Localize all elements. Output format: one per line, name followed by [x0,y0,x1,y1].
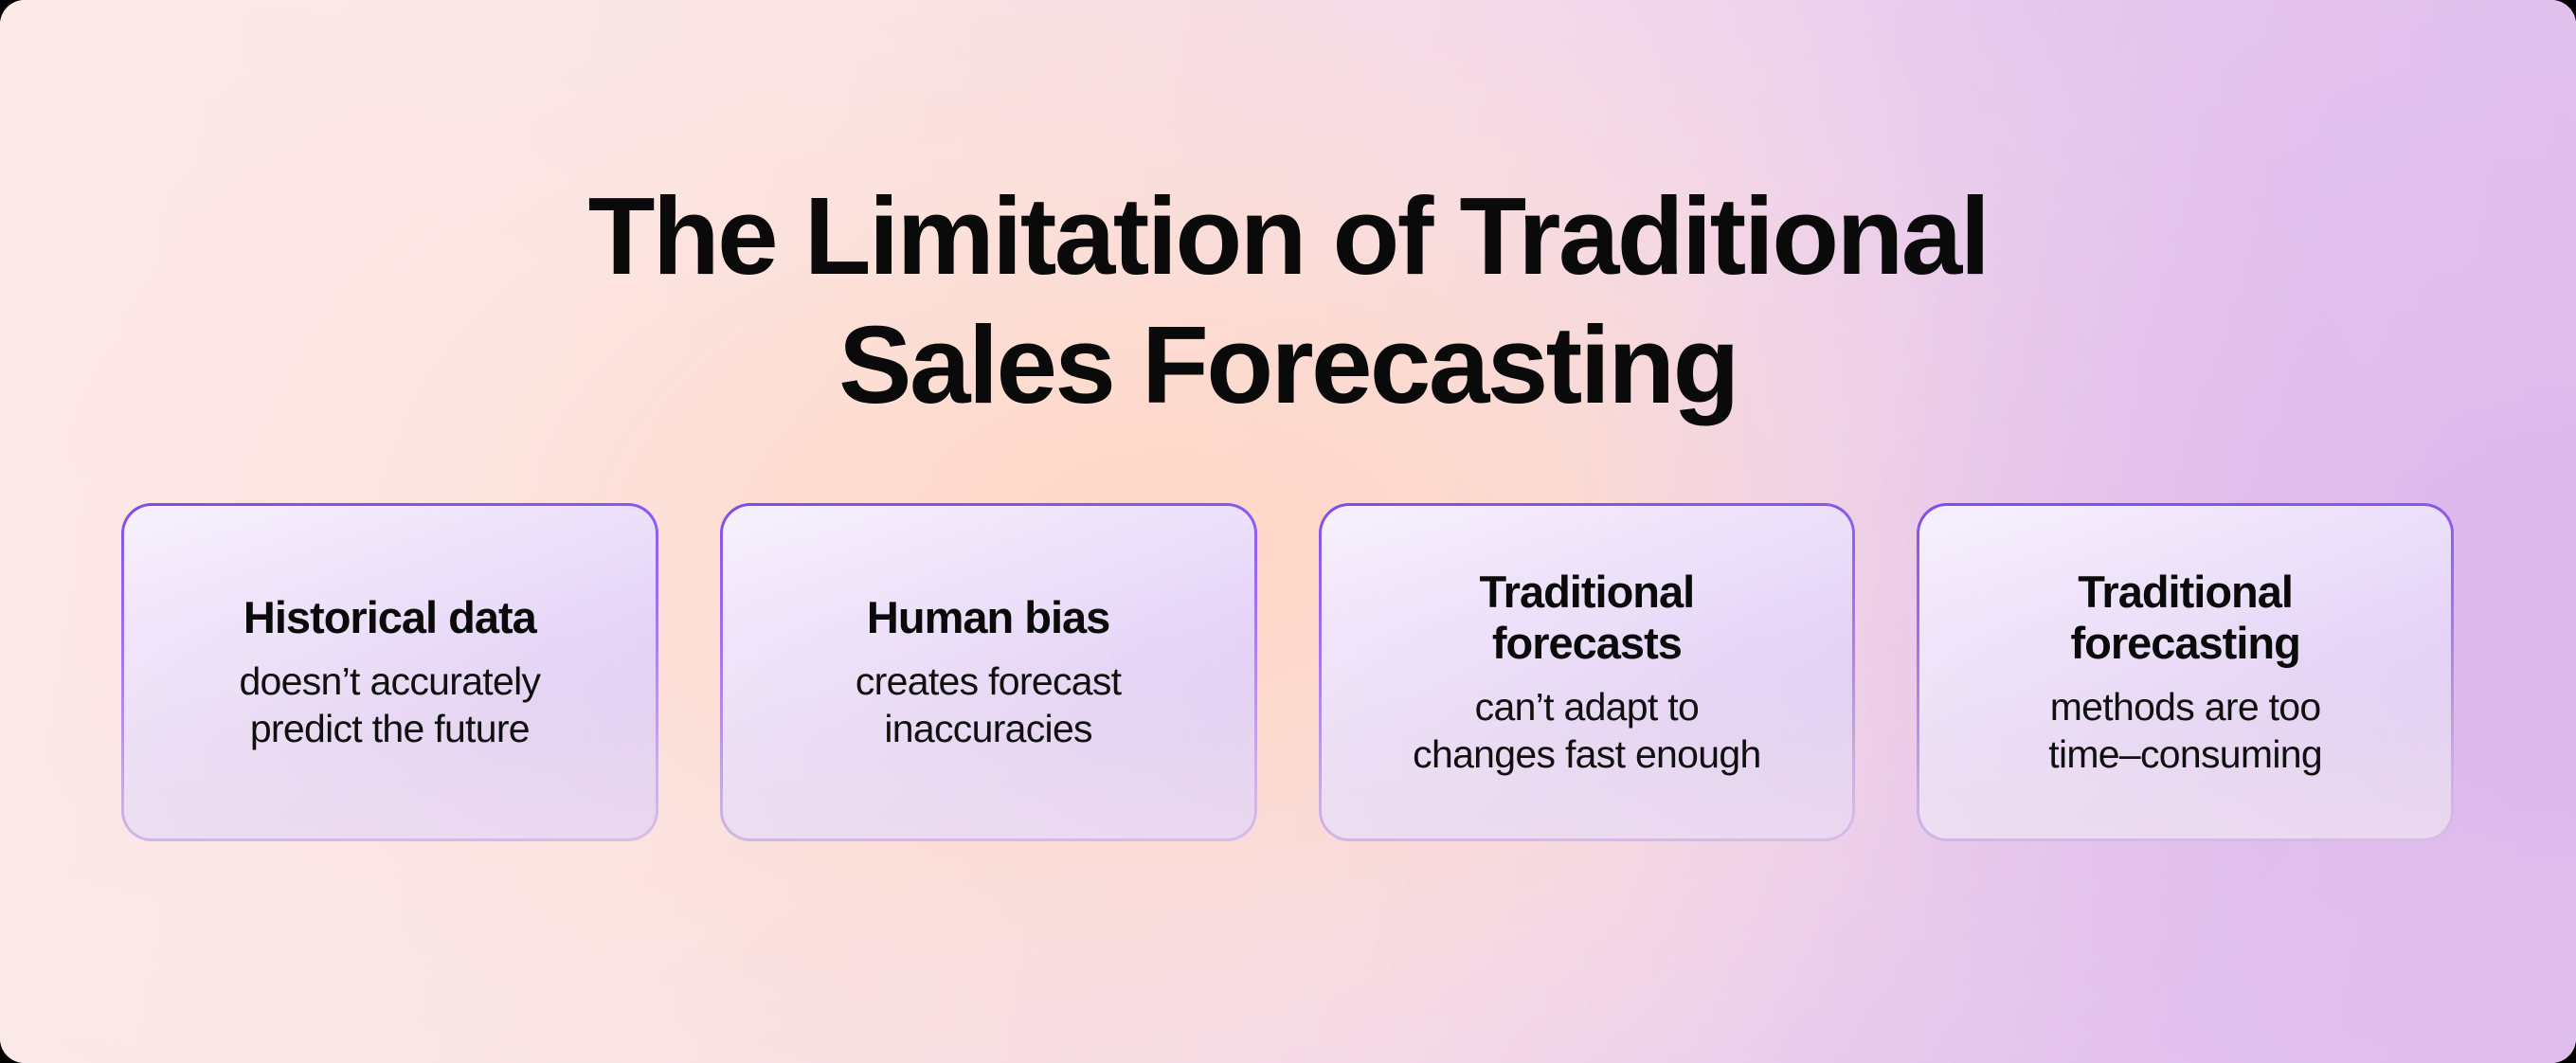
card-body: doesn’t accurately predict the future [239,658,540,752]
card-body: can’t adapt to changes fast enough [1413,683,1760,778]
limitation-card: Traditional forecasting methods are too … [1917,503,2454,841]
poster-content: The Limitation of Traditional Sales Fore… [0,0,2576,1063]
card-content: Historical data doesn’t accurately predi… [124,506,656,838]
limitation-card: Historical data doesn’t accurately predi… [121,503,658,841]
card-heading: Traditional forecasting [2070,567,2299,670]
card-content: Human bias creates forecast inaccuracies [723,506,1254,838]
card-content: Traditional forecasts can’t adapt to cha… [1322,506,1853,838]
card-heading: Historical data [243,592,536,644]
card-content: Traditional forecasting methods are too … [1919,506,2451,838]
card-heading: Traditional forecasts [1480,567,1695,670]
card-heading: Human bias [867,592,1109,644]
page-title: The Limitation of Traditional Sales Fore… [0,172,2576,429]
limitation-card-row: Historical data doesn’t accurately predi… [121,503,2454,841]
limitation-card: Traditional forecasts can’t adapt to cha… [1319,503,1856,841]
card-body: methods are too time–consuming [2048,683,2322,778]
card-body: creates forecast inaccuracies [856,658,1122,752]
limitation-card: Human bias creates forecast inaccuracies [720,503,1257,841]
poster-canvas: The Limitation of Traditional Sales Fore… [0,0,2576,1063]
